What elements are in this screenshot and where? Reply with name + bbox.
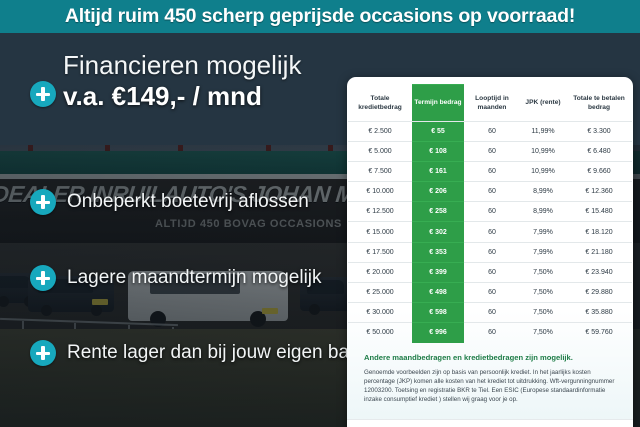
financing-table-body: € 2.500€ 556011,99%€ 3.300€ 5.000€ 10860… [348, 121, 632, 343]
plus-icon [30, 265, 56, 291]
table-cell: € 21.180 [566, 242, 632, 262]
table-cell: 60 [464, 161, 520, 181]
feature-bullet-label: Lagere maandtermijn mogelijk [67, 267, 322, 289]
headline-block: Financieren mogelijk v.a. €149,- / mnd [63, 50, 353, 112]
table-cell: € 2.500 [348, 121, 412, 141]
table-cell: 7,50% [520, 262, 566, 282]
table-row: € 5.000€ 1086010,99%€ 6.480 [348, 141, 632, 161]
table-cell: € 161 [412, 161, 464, 181]
table-header-row: Totale kredietbedrag Termijn bedrag Loop… [348, 85, 632, 122]
table-row: € 25.000€ 498607,50%€ 29.880 [348, 283, 632, 303]
note-body: Genoemde voorbeelden zijn op basis van p… [364, 368, 616, 405]
table-cell: € 23.940 [566, 262, 632, 282]
table-cell: € 25.000 [348, 283, 412, 303]
table-cell: 7,99% [520, 222, 566, 242]
table-cell: 10,99% [520, 141, 566, 161]
table-cell: 60 [464, 303, 520, 323]
table-cell: 10,99% [520, 161, 566, 181]
card-note: Andere maandbedragen en kredietbedragen … [347, 343, 633, 405]
table-cell: 7,99% [520, 242, 566, 262]
plus-icon [30, 189, 56, 215]
feature-bullet-label: Onbeperkt boetevrij aflossen [67, 191, 309, 213]
credit-warning-bar: Let op! Geld lenen kost geld [347, 419, 633, 427]
promo-banner: Altijd ruim 450 scherp geprijsde occasio… [0, 0, 640, 33]
table-cell: 60 [464, 242, 520, 262]
column-header-termijn-bedrag: Termijn bedrag [412, 85, 464, 122]
table-cell: 8,99% [520, 202, 566, 222]
table-cell: € 15.000 [348, 222, 412, 242]
table-cell: € 17.500 [348, 242, 412, 262]
column-header-jpk: JPK (rente) [520, 85, 566, 122]
table-cell: € 996 [412, 323, 464, 343]
table-cell: € 55 [412, 121, 464, 141]
table-cell: € 35.880 [566, 303, 632, 323]
column-header-totale-te-betalen: Totale te betalen bedrag [566, 85, 632, 122]
table-cell: 7,50% [520, 323, 566, 343]
plus-icon [30, 340, 56, 366]
headline-line-1: Financieren mogelijk [63, 50, 353, 80]
table-cell: € 7.500 [348, 161, 412, 181]
table-cell: 8,99% [520, 182, 566, 202]
table-cell: 11,99% [520, 121, 566, 141]
table-row: € 12.500€ 258608,99%€ 15.480 [348, 202, 632, 222]
table-cell: € 598 [412, 303, 464, 323]
table-row: € 17.500€ 353607,99%€ 21.180 [348, 242, 632, 262]
table-cell: € 50.000 [348, 323, 412, 343]
headline-line-2: v.a. €149,- / mnd [63, 80, 353, 112]
table-row: € 20.000€ 399607,50%€ 23.940 [348, 262, 632, 282]
plus-icon [30, 81, 56, 107]
table-cell: € 399 [412, 262, 464, 282]
promo-banner-text: Altijd ruim 450 scherp geprijsde occasio… [65, 5, 575, 28]
table-cell: € 9.660 [566, 161, 632, 181]
table-cell: € 108 [412, 141, 464, 161]
table-cell: € 15.480 [566, 202, 632, 222]
note-title: Andere maandbedragen en kredietbedragen … [364, 352, 616, 363]
table-cell: € 59.760 [566, 323, 632, 343]
table-cell: 60 [464, 262, 520, 282]
financing-table: Totale kredietbedrag Termijn bedrag Loop… [348, 84, 632, 343]
table-row: € 15.000€ 302607,99%€ 18.120 [348, 222, 632, 242]
table-cell: € 498 [412, 283, 464, 303]
hero-stage: DEALER INRUILAUTO'S JOHAN MEURE ALTIJD 4… [0, 33, 640, 427]
table-cell: € 353 [412, 242, 464, 262]
table-cell: € 30.000 [348, 303, 412, 323]
table-cell: 60 [464, 202, 520, 222]
table-cell: 60 [464, 323, 520, 343]
table-row: € 10.000€ 206608,99%€ 12.360 [348, 182, 632, 202]
table-cell: € 12.500 [348, 202, 412, 222]
table-cell: 7,50% [520, 303, 566, 323]
table-row: € 7.500€ 1616010,99%€ 9.660 [348, 161, 632, 181]
table-row: € 2.500€ 556011,99%€ 3.300 [348, 121, 632, 141]
table-cell: € 258 [412, 202, 464, 222]
table-cell: € 29.880 [566, 283, 632, 303]
table-cell: 60 [464, 283, 520, 303]
table-cell: € 5.000 [348, 141, 412, 161]
table-cell: € 6.480 [566, 141, 632, 161]
table-cell: 60 [464, 182, 520, 202]
table-cell: € 3.300 [566, 121, 632, 141]
financing-card: Totale kredietbedrag Termijn bedrag Loop… [347, 77, 633, 427]
feature-bullet-1: Onbeperkt boetevrij aflossen [30, 189, 309, 215]
feature-bullet-label: Rente lager dan bij jouw eigen bank [67, 342, 369, 364]
table-cell: € 12.360 [566, 182, 632, 202]
table-cell: € 20.000 [348, 262, 412, 282]
table-cell: 60 [464, 121, 520, 141]
column-header-totale-kredietbedrag: Totale kredietbedrag [348, 85, 412, 122]
column-header-looptijd: Looptijd in maanden [464, 85, 520, 122]
table-row: € 50.000€ 996607,50%€ 59.760 [348, 323, 632, 343]
table-cell: 60 [464, 222, 520, 242]
table-cell: € 206 [412, 182, 464, 202]
table-cell: 7,50% [520, 283, 566, 303]
table-cell: € 302 [412, 222, 464, 242]
feature-bullet-2: Lagere maandtermijn mogelijk [30, 265, 322, 291]
table-cell: € 18.120 [566, 222, 632, 242]
feature-bullet-3: Rente lager dan bij jouw eigen bank [30, 340, 369, 366]
table-cell: 60 [464, 141, 520, 161]
table-cell: € 10.000 [348, 182, 412, 202]
table-row: € 30.000€ 598607,50%€ 35.880 [348, 303, 632, 323]
